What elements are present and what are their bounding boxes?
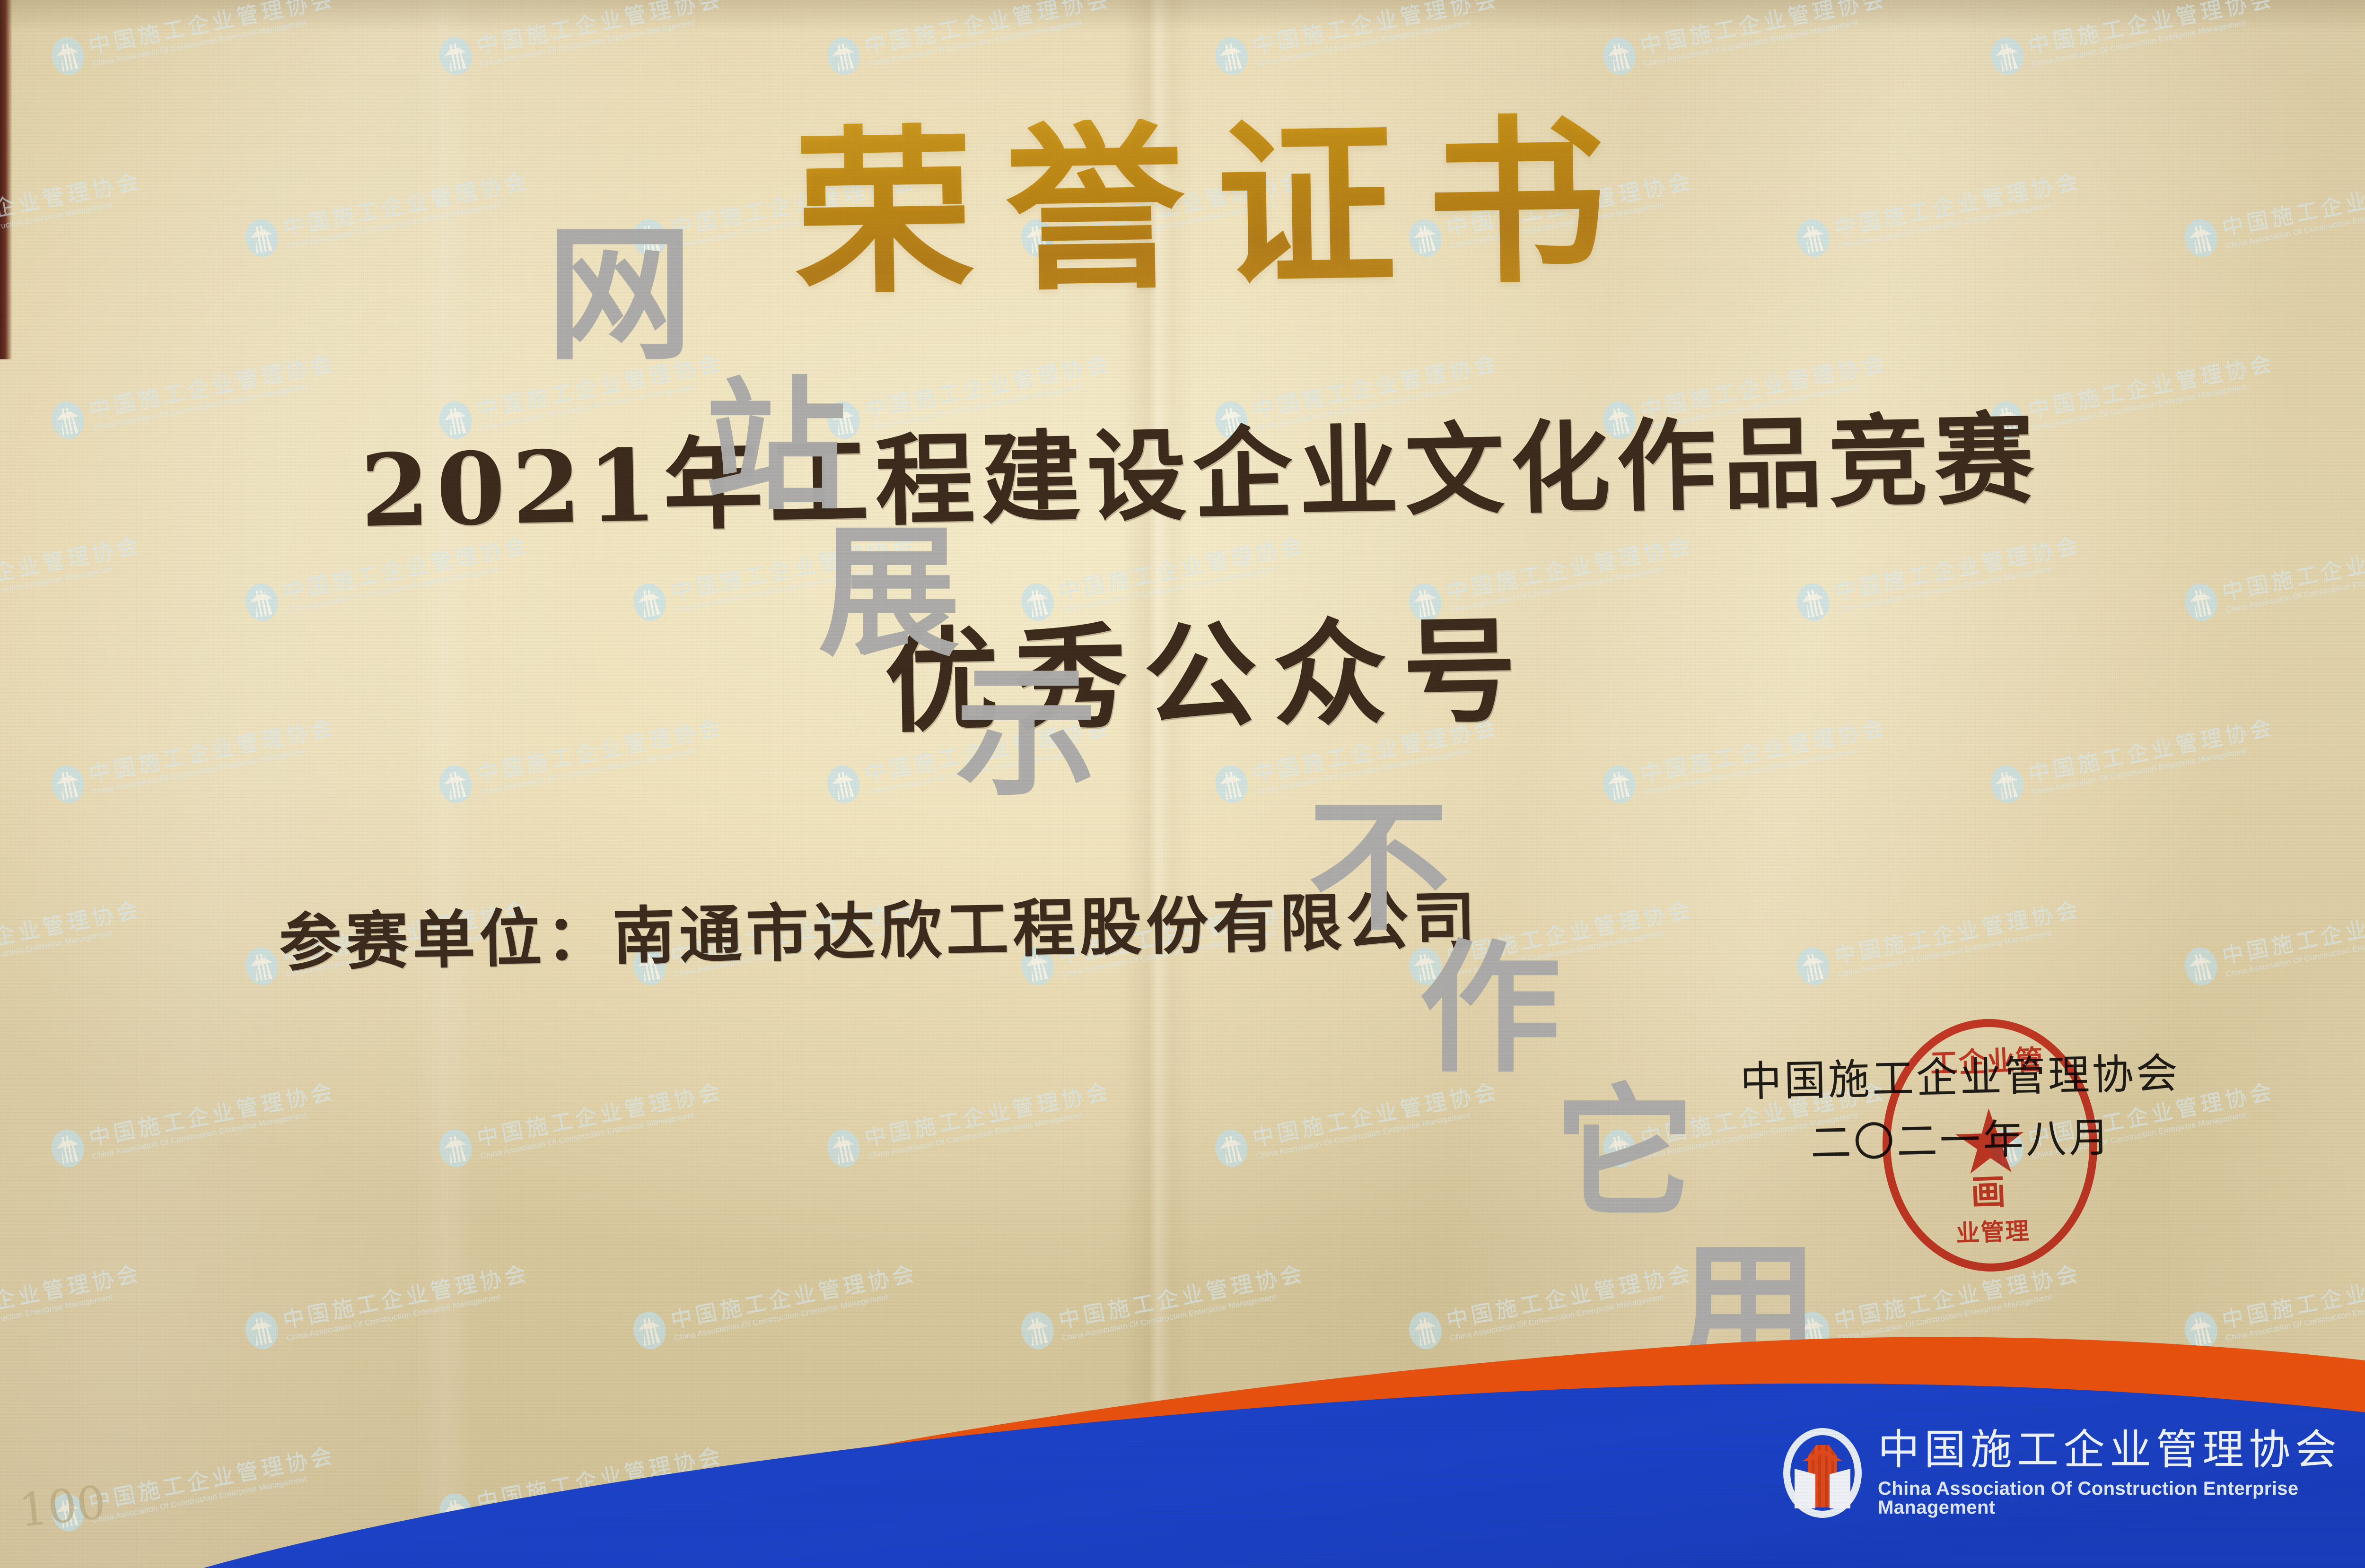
association-logo-block: 中国施工企业管理协会 China Association Of Construc… (1783, 1428, 2365, 1518)
certificate-photo: 中国施工企业管理协会China Association Of Construct… (0, 0, 2365, 1568)
brand-text: 中国施工企业管理协会 China Association Of Construc… (1878, 1429, 2365, 1517)
seal-arc-top-text: 工企业管 (1887, 1036, 2087, 1083)
brand-name-en: China Association Of Construction Enterp… (1878, 1479, 2365, 1517)
logo-wing-left (1795, 1469, 1815, 1508)
seal-center-mark: 画 (1970, 1164, 2006, 1216)
seal-arc-bottom-text: 业管理 (1893, 1210, 2093, 1251)
brand-name-cn: 中国施工企业管理协会 (1878, 1429, 2365, 1471)
logo-wing-right (1830, 1469, 1850, 1508)
caceem-logo-icon (1783, 1428, 1862, 1518)
pencil-handwritten-note: 100 (17, 1476, 108, 1538)
official-red-seal-icon: 工企业管 画 业管理 (1878, 1015, 2102, 1275)
certificate-gold-title: 荣誉证书 (0, 99, 2365, 317)
